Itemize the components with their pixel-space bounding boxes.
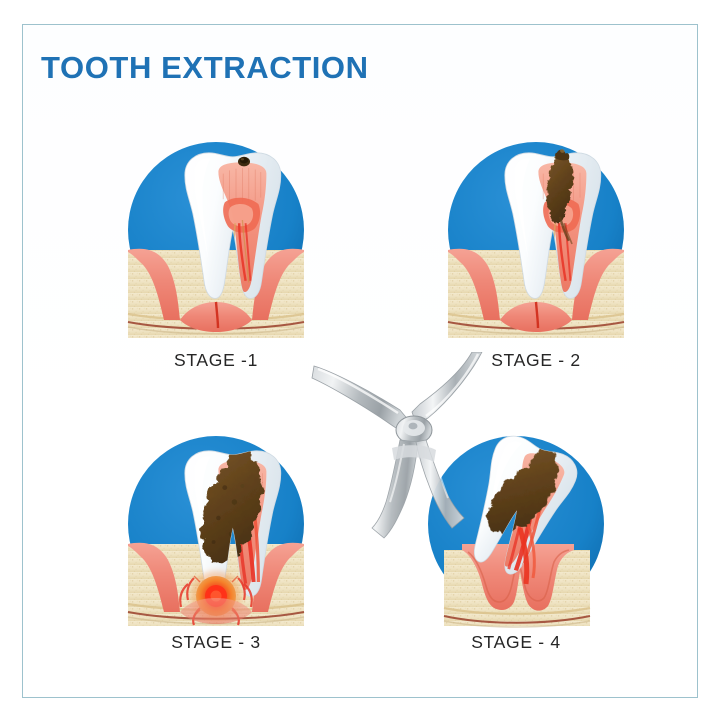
stage-4-caption: STAGE - 4	[396, 632, 636, 653]
stage-3-illustration	[96, 432, 336, 630]
stage-panel-4: STAGE - 4	[396, 432, 636, 682]
stage-panel-1: STAGE -1	[96, 132, 336, 382]
page-title: TOOTH EXTRACTION	[41, 50, 369, 86]
stage-1-cavity-spot	[238, 157, 250, 167]
stage-2-illustration	[416, 132, 656, 347]
stage-4-illustration	[396, 432, 636, 630]
stage-panel-3: STAGE - 3	[96, 432, 336, 682]
stage-2-caption: STAGE - 2	[416, 350, 656, 371]
infographic-poster: TOOTH EXTRACTION	[0, 0, 720, 720]
stage-3-caption: STAGE - 3	[96, 632, 336, 653]
stage-1-illustration	[96, 132, 336, 347]
stage-panel-2: STAGE - 2	[416, 132, 656, 382]
stage-1-caption: STAGE -1	[96, 350, 336, 371]
